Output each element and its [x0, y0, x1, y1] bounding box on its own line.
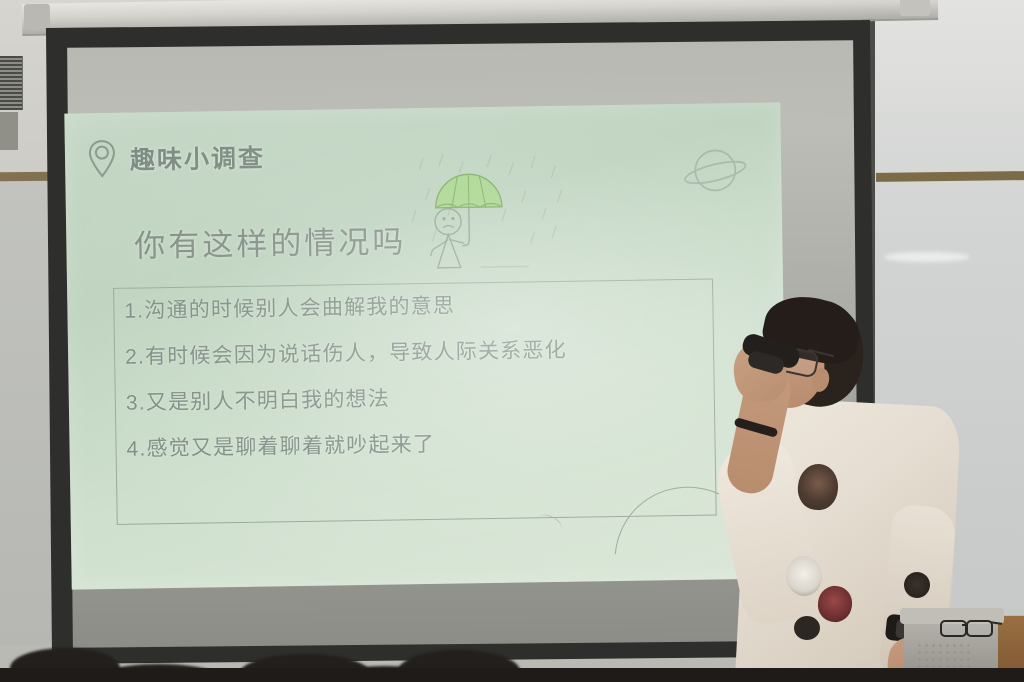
wall-vent-lower — [0, 112, 18, 150]
list-item: 4.感觉又是聊着聊着就吵起来了 — [126, 429, 726, 459]
eyeglasses-on-lectern — [940, 620, 994, 634]
projected-slide: 趣味小调查 — [64, 102, 787, 589]
planet-icon — [681, 143, 750, 204]
slide-subtitle: 你有这样的情况吗 — [134, 216, 407, 265]
list-item: 3.又是别人不明白我的想法 — [126, 383, 726, 413]
whiteboard-smudge — [884, 252, 970, 262]
eyeglasses-bridge — [962, 624, 968, 626]
slide-title: 趣味小调查 — [130, 139, 266, 177]
wall-vent-icon — [0, 56, 23, 110]
roller-cap-right — [900, 0, 930, 16]
audience-row-shadow — [0, 668, 1024, 682]
sweatshirt-patch-dark — [794, 616, 820, 640]
eyeglasses-left-lens — [940, 620, 967, 637]
rainy-stick-figure-illustration — [405, 150, 577, 273]
survey-list: 1.沟通的时候别人会曲解我的意思 2.有时候会因为说话伤人，导致人际关系恶化 3… — [124, 291, 727, 484]
sleeve-patch — [904, 572, 930, 598]
list-item: 2.有时候会因为说话伤人，导致人际关系恶化 — [125, 337, 725, 367]
slide-title-row: 趣味小调查 — [87, 137, 266, 180]
whiteboard-rail — [876, 171, 1024, 182]
location-pin-icon — [87, 139, 118, 179]
classroom-screenshot: 趣味小调查 — [0, 0, 1024, 682]
roller-cap-left — [24, 4, 50, 30]
